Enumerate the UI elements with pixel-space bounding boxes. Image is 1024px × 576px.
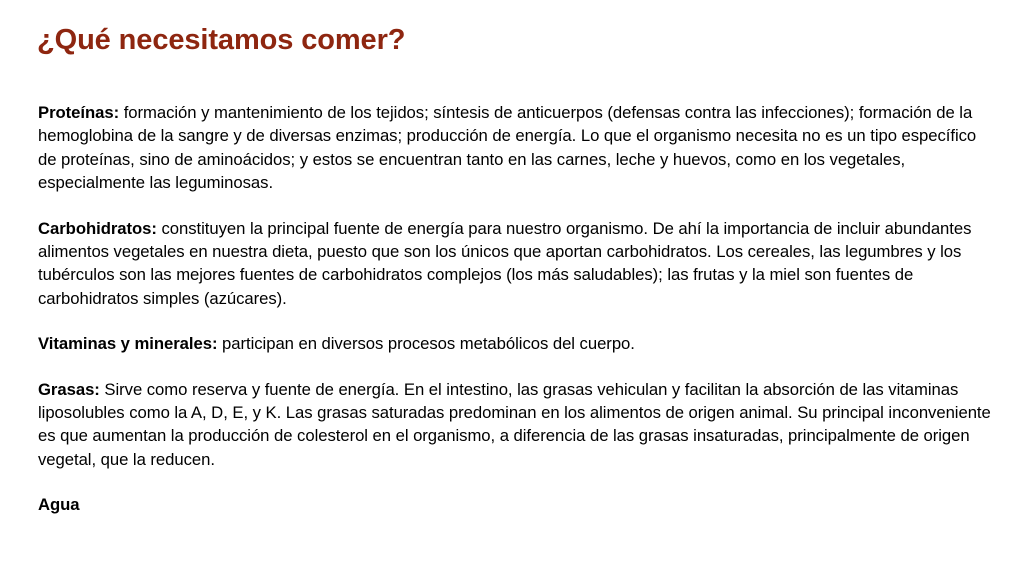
paragraph-carbohidratos: Carbohidratos: constituyen la principal … (38, 217, 998, 311)
paragraph-vitaminas-minerales-text: participan en diversos procesos metabóli… (217, 334, 634, 353)
paragraph-proteinas: Proteínas: formación y mantenimiento de … (38, 101, 998, 195)
slide-canvas: ¿Qué necesitamos comer? Proteínas: forma… (0, 0, 1024, 576)
paragraph-proteinas-text: formación y mantenimiento de los tejidos… (38, 103, 976, 192)
slide-body: Proteínas: formación y mantenimiento de … (38, 101, 998, 517)
paragraph-agua: Agua (38, 493, 998, 516)
paragraph-vitaminas-minerales-label: Vitaminas y minerales: (38, 334, 217, 353)
paragraph-carbohidratos-text: constituyen la principal fuente de energ… (38, 219, 971, 308)
paragraph-agua-label: Agua (38, 495, 80, 514)
paragraph-carbohidratos-label: Carbohidratos: (38, 219, 157, 238)
page-title: ¿Qué necesitamos comer? (37, 22, 987, 58)
paragraph-grasas-text: Sirve como reserva y fuente de energía. … (38, 380, 991, 469)
paragraph-vitaminas-minerales: Vitaminas y minerales: participan en div… (38, 332, 998, 355)
paragraph-grasas: Grasas: Sirve como reserva y fuente de e… (38, 378, 998, 472)
paragraph-grasas-label: Grasas: (38, 380, 100, 399)
paragraph-proteinas-label: Proteínas: (38, 103, 119, 122)
